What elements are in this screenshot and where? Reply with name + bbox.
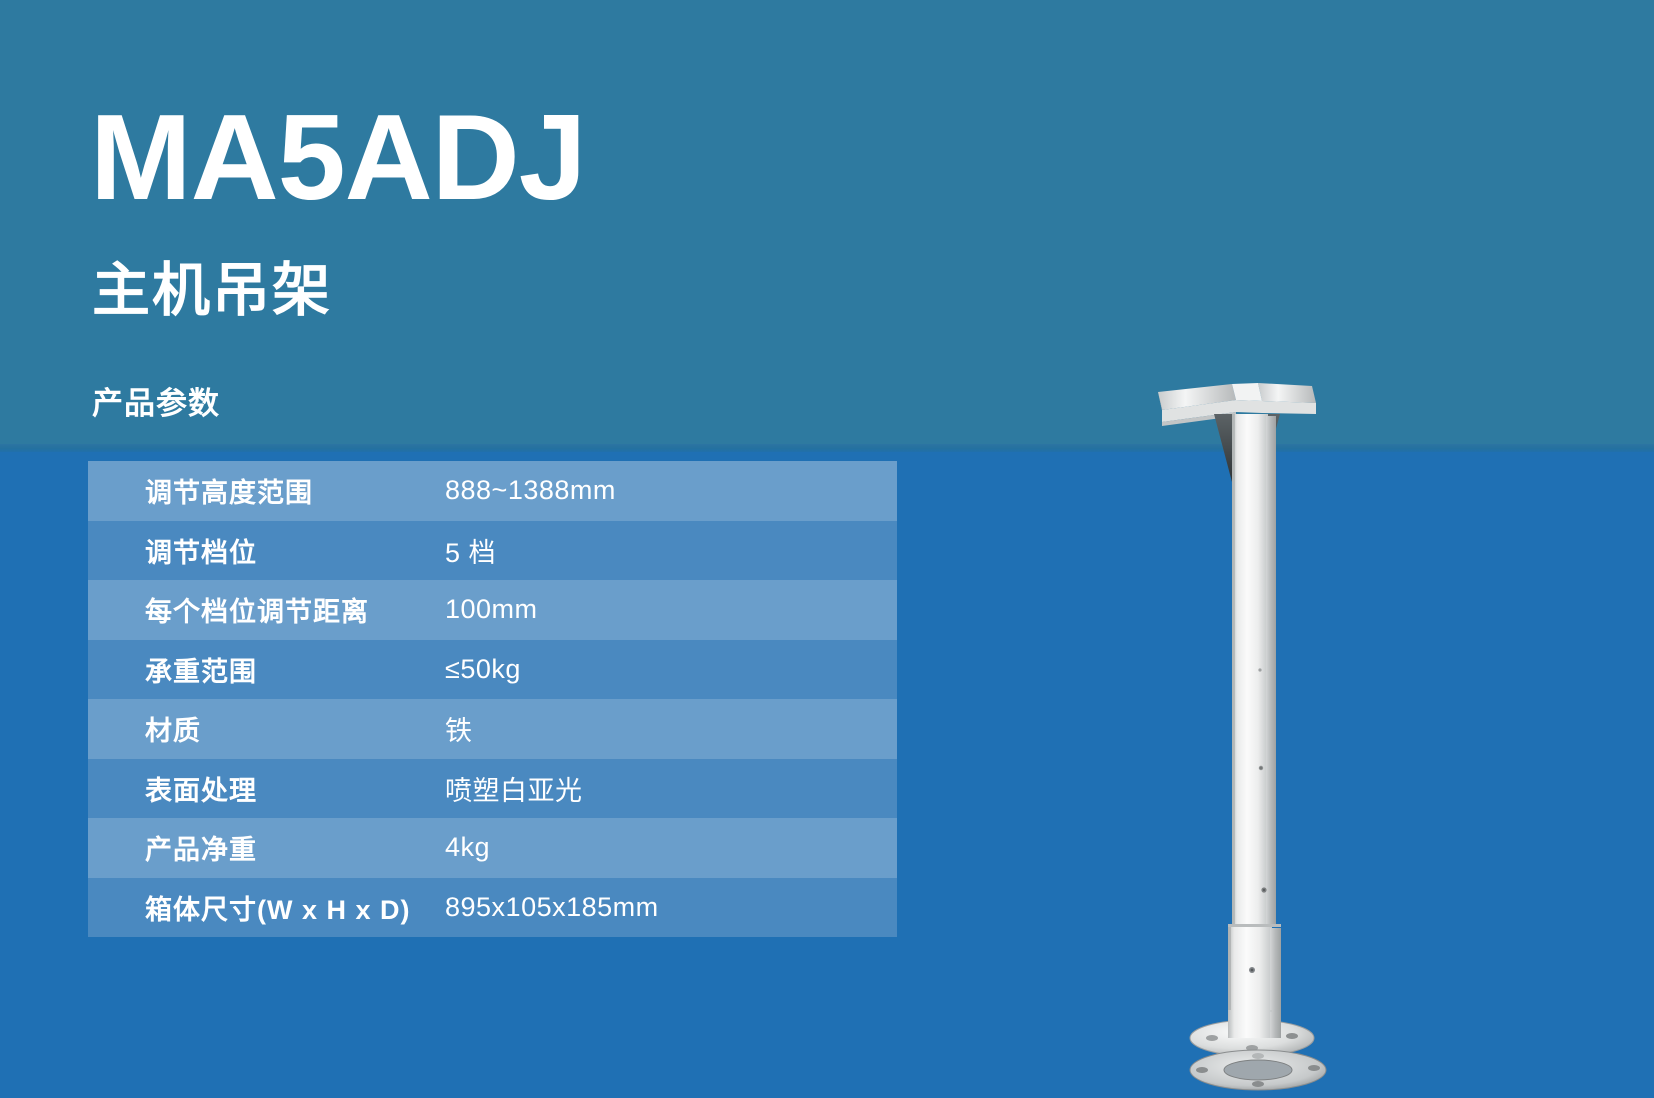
table-row: 产品净重 4kg bbox=[88, 818, 897, 878]
table-row: 调节高度范围 888~1388mm bbox=[88, 461, 897, 521]
flange-bolt-hole bbox=[1206, 1035, 1218, 1041]
table-row: 箱体尺寸(W x H x D) 895x105x185mm bbox=[88, 878, 897, 938]
flange-bolt-hole bbox=[1308, 1065, 1320, 1071]
product-illustration bbox=[1140, 370, 1390, 1098]
table-row: 调节档位 5 档 bbox=[88, 521, 897, 581]
column-foot bbox=[1228, 1010, 1272, 1038]
product-name: 主机吊架 bbox=[92, 262, 332, 320]
spec-label: 箱体尺寸(W x H x D) bbox=[88, 888, 445, 927]
spec-value: 喷塑白亚光 bbox=[445, 769, 897, 808]
spec-label: 每个档位调节距离 bbox=[88, 590, 445, 629]
flange-bolt-hole bbox=[1252, 1081, 1264, 1087]
spec-value: 895x105x185mm bbox=[445, 892, 897, 923]
spec-label: 材质 bbox=[88, 709, 445, 748]
spec-label: 产品净重 bbox=[88, 828, 445, 867]
table-row: 材质 铁 bbox=[88, 699, 897, 759]
spec-label: 调节档位 bbox=[88, 531, 445, 570]
spec-label: 表面处理 bbox=[88, 769, 445, 808]
section-heading: 产品参数 bbox=[92, 388, 220, 419]
table-row: 承重范围 ≤50kg bbox=[88, 640, 897, 700]
spec-table: 调节高度范围 888~1388mm 调节档位 5 档 每个档位调节距离 100m… bbox=[88, 461, 897, 937]
spec-value: 100mm bbox=[445, 594, 897, 625]
product-model-title: MA5ADJ bbox=[90, 96, 586, 218]
flange-bolt-hole bbox=[1286, 1033, 1298, 1039]
spec-value: 铁 bbox=[445, 709, 897, 748]
table-row: 表面处理 喷塑白亚光 bbox=[88, 759, 897, 819]
column-screw-dot bbox=[1258, 668, 1261, 671]
flange-bolt-hole bbox=[1196, 1067, 1208, 1073]
product-photo bbox=[1140, 370, 1390, 1098]
flange-bolt-hole bbox=[1252, 1053, 1264, 1059]
column-upper-side bbox=[1266, 416, 1276, 926]
background-top-band bbox=[0, 0, 1654, 452]
spec-value: 4kg bbox=[445, 832, 897, 863]
spec-label: 承重范围 bbox=[88, 650, 445, 689]
bracket-wing-right bbox=[1258, 383, 1316, 403]
spec-value: 888~1388mm bbox=[445, 475, 897, 506]
spec-value: 5 档 bbox=[445, 531, 897, 570]
product-spec-sheet: MA5ADJ 主机吊架 产品参数 调节高度范围 888~1388mm 调节档位 … bbox=[0, 0, 1654, 1098]
column-upper bbox=[1232, 414, 1268, 926]
spec-label: 调节高度范围 bbox=[88, 471, 445, 510]
column-seam bbox=[1228, 924, 1281, 927]
table-row: 每个档位调节距离 100mm bbox=[88, 580, 897, 640]
spec-value: ≤50kg bbox=[445, 654, 897, 685]
